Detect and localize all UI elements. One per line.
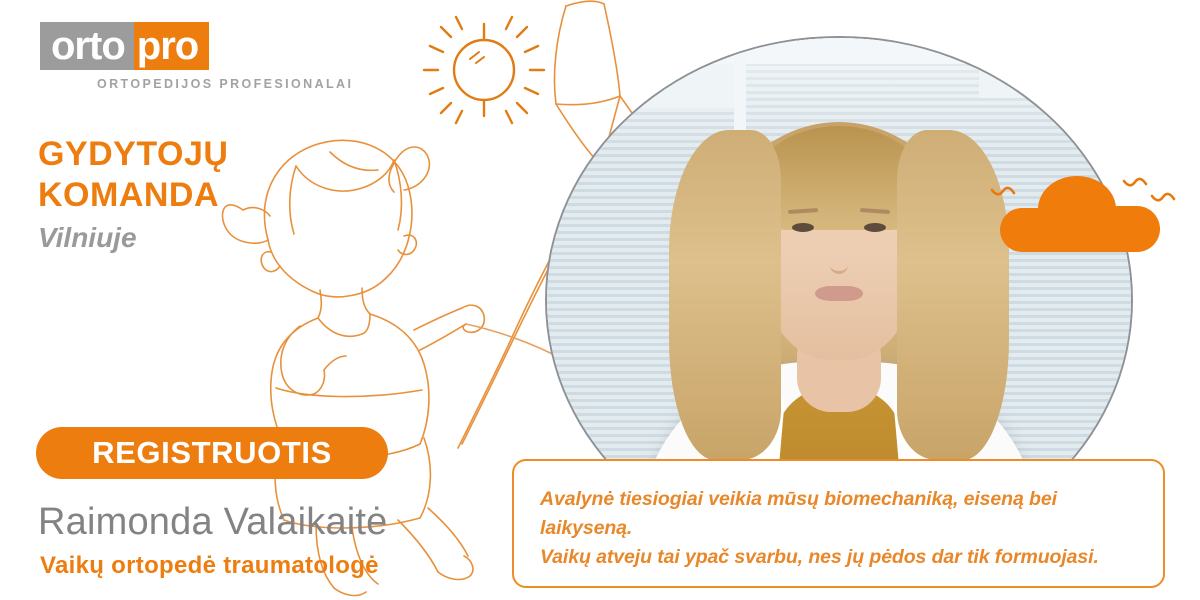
logo-orto-text: orto <box>40 22 134 70</box>
doctor-role: Vaikų ortopedė traumatologė <box>40 551 379 581</box>
logo-wordmark: orto pro <box>40 22 353 70</box>
blind-panel-left <box>547 64 746 108</box>
logo-tagline: ORTOPEDIJOS PROFESIONALAI <box>97 77 353 91</box>
brand-logo[interactable]: orto pro ORTOPEDIJOS PROFESIONALAI <box>40 22 353 91</box>
photo-eye-right <box>864 223 886 232</box>
photo-hair-front-right <box>897 130 1009 460</box>
quote-text: Avalynė tiesiogiai veikia mūsų biomechan… <box>540 485 1135 572</box>
photo-mouth <box>815 286 863 301</box>
poster-canvas: orto pro ORTOPEDIJOS PROFESIONALAI GYDYT… <box>0 0 1200 600</box>
logo-pro-text: pro <box>134 22 209 70</box>
cloud-icon <box>1000 176 1160 252</box>
photo-eye-left <box>792 223 814 232</box>
photo-hair-front-left <box>669 130 781 460</box>
registruotis-button[interactable]: REGISTRUOTIS <box>36 427 388 479</box>
blind-panel-right <box>979 64 1131 98</box>
blind-top-rail <box>547 38 1131 64</box>
quote-box: Avalynė tiesiogiai veikia mūsų biomechan… <box>512 459 1165 588</box>
doctor-name: Raimonda Valaikaitė <box>38 500 388 544</box>
headline-line-2: KOMANDA <box>38 175 228 216</box>
headline-city: Vilniuje <box>38 218 228 258</box>
headline-block: GYDYTOJŲ KOMANDA Vilniuje <box>38 134 228 258</box>
headline-line-1: GYDYTOJŲ <box>38 134 228 175</box>
photo-nose <box>830 243 848 274</box>
sun-icon <box>424 17 544 123</box>
